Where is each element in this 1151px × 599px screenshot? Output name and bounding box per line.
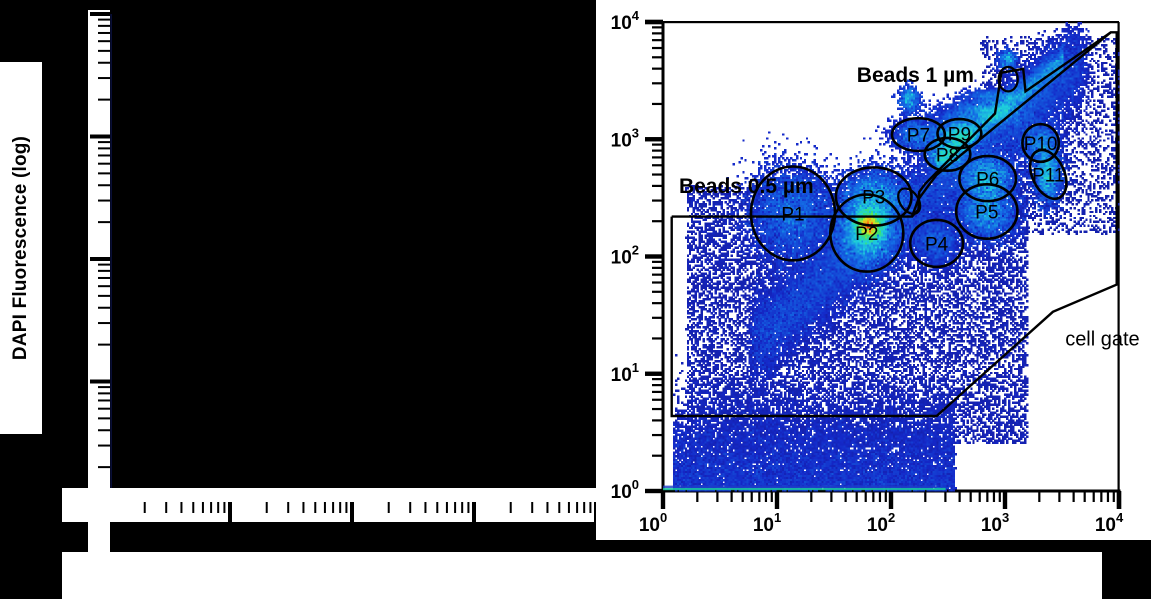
svg-text:101: 101 [753,510,781,536]
left-x-origin-strip [88,488,110,554]
figure-root: DAPI Fluorescence (log) FSC (log) 100100… [0,0,1151,599]
svg-text:104: 104 [1095,510,1124,536]
gate-label-p10: P10 [1024,134,1058,155]
gate-label-p5: P5 [975,203,998,224]
gate-label-p9: P9 [948,125,971,146]
gate-label-p6: P6 [976,170,999,191]
filler-block-bottom-left [0,552,62,599]
gate-label-p1: P1 [781,204,804,225]
svg-text:103: 103 [981,510,1009,536]
flow-cytometry-plot: 100100101101102102103103104104P1P2P3P4P5… [596,0,1151,540]
annotation-cell-gate: cell gate [1065,329,1140,351]
svg-text:101: 101 [611,360,639,386]
filler-block-bottom-right [1102,540,1151,599]
left-panel: DAPI Fluorescence (log) [0,0,596,599]
left-plot-data [110,14,596,502]
svg-text:104: 104 [611,8,640,34]
gate-label-p11: P11 [1032,165,1064,186]
gate-label-p4: P4 [925,234,949,255]
gate-label-p7: P7 [907,126,930,147]
annotation-beads-05um: Beads 0.5 µm [679,175,814,198]
left-x-tick-strip [62,488,596,522]
left-plot-area [110,14,596,502]
svg-text:102: 102 [867,510,895,536]
left-y-tick-strip [88,10,110,505]
fsc-label-strip: FSC (log) [62,552,1102,599]
right-panel: 100100101101102102103103104104P1P2P3P4P5… [596,0,1151,540]
left-y-axis-label: DAPI Fluorescence (log) [0,62,42,434]
gate-label-p2: P2 [855,224,878,245]
svg-text:100: 100 [611,477,639,503]
svg-text:103: 103 [611,125,639,151]
svg-text:100: 100 [639,510,667,536]
gate-label-p3: P3 [862,188,885,209]
filler-block-under-left [0,522,62,552]
svg-text:102: 102 [611,243,639,269]
annotation-beads-1um: Beads 1 µm [857,64,974,87]
